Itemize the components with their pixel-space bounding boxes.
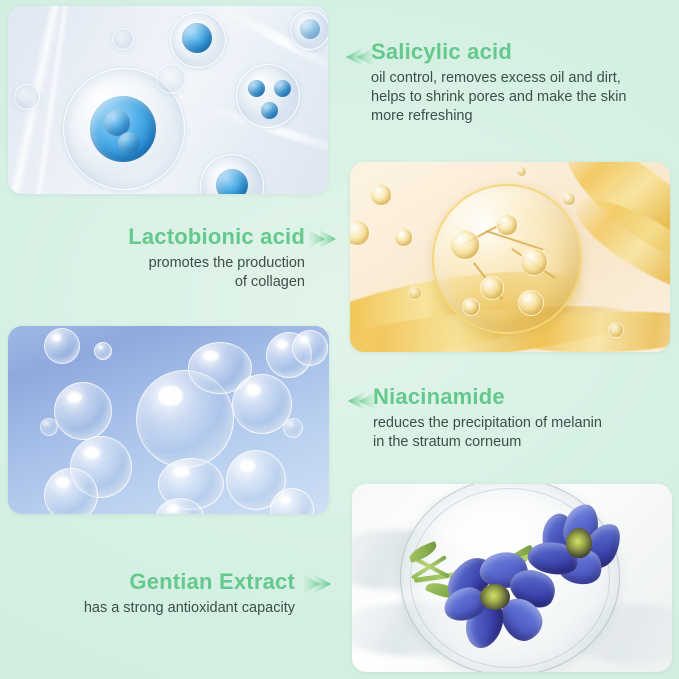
- ingredient-description-salicylic-acid: oil control, removes excess oil and dirt…: [371, 69, 661, 126]
- gentian-flower-artwork: [352, 484, 672, 672]
- ingredient-description-lactobionic-acid: promotes the production of collagen: [110, 254, 305, 292]
- arrow-left-icon-salicylic-acid: [340, 46, 374, 68]
- ingredient-text-gentian-extract: Gentian Extract has a strong antioxidant…: [60, 570, 295, 618]
- ingredient-heading-salicylic-acid: Salicylic acid: [371, 40, 661, 64]
- ingredient-image-niacinamide: [8, 326, 329, 514]
- bubbles-artwork: [8, 326, 329, 514]
- ingredient-text-salicylic-acid: Salicylic acid oil control, removes exce…: [371, 40, 661, 127]
- ingredient-image-gentian-extract: [352, 484, 672, 672]
- arrow-right-icon-gentian-extract: [303, 573, 337, 595]
- ingredient-description-niacinamide: reduces the precipitation of melanin in …: [373, 414, 665, 452]
- ingredient-image-lactobionic-acid: [350, 162, 670, 352]
- ingredient-heading-gentian-extract: Gentian Extract: [60, 570, 295, 594]
- ingredient-text-niacinamide: Niacinamide reduces the precipitation of…: [373, 385, 665, 452]
- ingredient-infographic: Salicylic acid oil control, removes exce…: [0, 0, 679, 679]
- arrow-left-icon-niacinamide: [342, 390, 376, 412]
- arrow-right-icon-lactobionic-acid: [308, 228, 342, 250]
- ingredient-text-lactobionic-acid: Lactobionic acid promotes the production…: [110, 225, 305, 292]
- capsules-artwork: [8, 6, 328, 194]
- ingredient-description-gentian-extract: has a strong antioxidant capacity: [60, 599, 295, 618]
- oil-sphere-artwork: [350, 162, 670, 352]
- ingredient-heading-niacinamide: Niacinamide: [373, 385, 665, 409]
- ingredient-image-salicylic-acid: [8, 6, 328, 194]
- ingredient-heading-lactobionic-acid: Lactobionic acid: [110, 225, 305, 249]
